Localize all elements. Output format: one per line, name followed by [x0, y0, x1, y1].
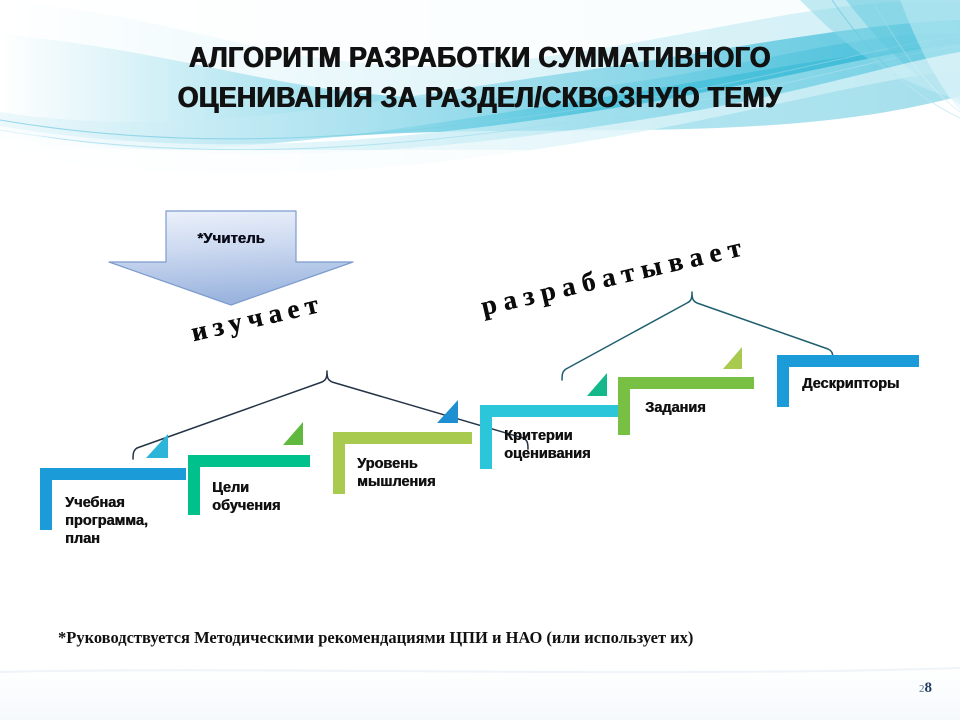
teacher-block-arrow [100, 210, 362, 307]
step-corner-horizontal [480, 405, 619, 417]
step-kriterii-ocenivaniya[interactable]: Критерии оценивания [480, 405, 632, 490]
teacher-label: *Учитель [100, 230, 362, 247]
page-number-main: 8 [925, 680, 933, 696]
step-deskriptory[interactable]: Дескрипторы [777, 355, 924, 415]
step-corner-horizontal [40, 468, 186, 480]
slide-canvas: АЛГОРИТМ РАЗРАБОТКИ СУММАТИВНОГО ОЦЕНИВА… [0, 0, 960, 720]
marker-triangle-3 [437, 400, 458, 423]
step-uroven-myshleniya[interactable]: Уровень мышления [333, 432, 481, 514]
marker-triangle-5 [723, 347, 742, 369]
step-celi-obucheniya[interactable]: Цели обучения [188, 455, 318, 533]
step-label: Дескрипторы [802, 375, 937, 393]
step-zadaniya[interactable]: Задания [618, 377, 762, 443]
step-label: Цели обучения [212, 479, 317, 515]
page-number: 28 [919, 680, 932, 697]
step-label: Задания [645, 399, 760, 417]
step-corner-horizontal [777, 355, 919, 367]
step-label: Уровень мышления [357, 455, 482, 491]
marker-triangle-1 [146, 434, 168, 458]
footnote-text: *Руководствуется Методическими рекоменда… [58, 628, 902, 648]
step-label: Критерии оценивания [504, 427, 634, 463]
marker-triangle-2 [283, 422, 303, 445]
step-corner-horizontal [618, 377, 754, 389]
marker-triangle-4 [587, 373, 607, 396]
verb-razrabatyvaet: разрабатывает [478, 231, 751, 323]
page-title: АЛГОРИТМ РАЗРАБОТКИ СУММАТИВНОГО ОЦЕНИВА… [94, 38, 867, 118]
step-corner-horizontal [333, 432, 472, 444]
step-corner-horizontal [188, 455, 310, 467]
